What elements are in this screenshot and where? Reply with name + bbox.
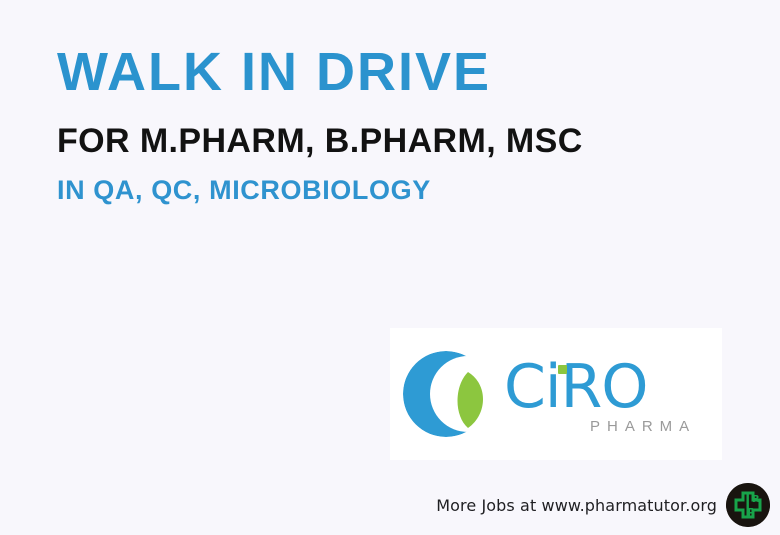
headline-block: WALK IN DRIVE FOR M.PHARM, B.PHARM, MSC … (57, 44, 717, 204)
headline-departments: IN QA, QC, MICROBIOLOGY (57, 176, 717, 204)
pharmatutor-cross-badge-icon: R P (726, 483, 770, 527)
footer-bar: More Jobs at www.pharmatutor.org R P (0, 483, 780, 527)
headline-qualifications: FOR M.PHARM, B.PHARM, MSC (57, 124, 717, 160)
company-logo-card: CiRO PHARMA (390, 328, 722, 460)
crescent-leaf-icon (398, 342, 502, 446)
poster-canvas: WALK IN DRIVE FOR M.PHARM, B.PHARM, MSC … (0, 0, 780, 535)
company-wordmark: CiRO PHARMA (504, 353, 722, 436)
headline-primary: WALK IN DRIVE (57, 44, 717, 100)
company-name-wrapper: CiRO (504, 359, 647, 417)
company-name: CiRO (504, 352, 647, 422)
svg-text:R: R (752, 494, 760, 505)
i-dot-accent (558, 365, 567, 374)
footer-credit-text: More Jobs at www.pharmatutor.org (436, 496, 717, 515)
